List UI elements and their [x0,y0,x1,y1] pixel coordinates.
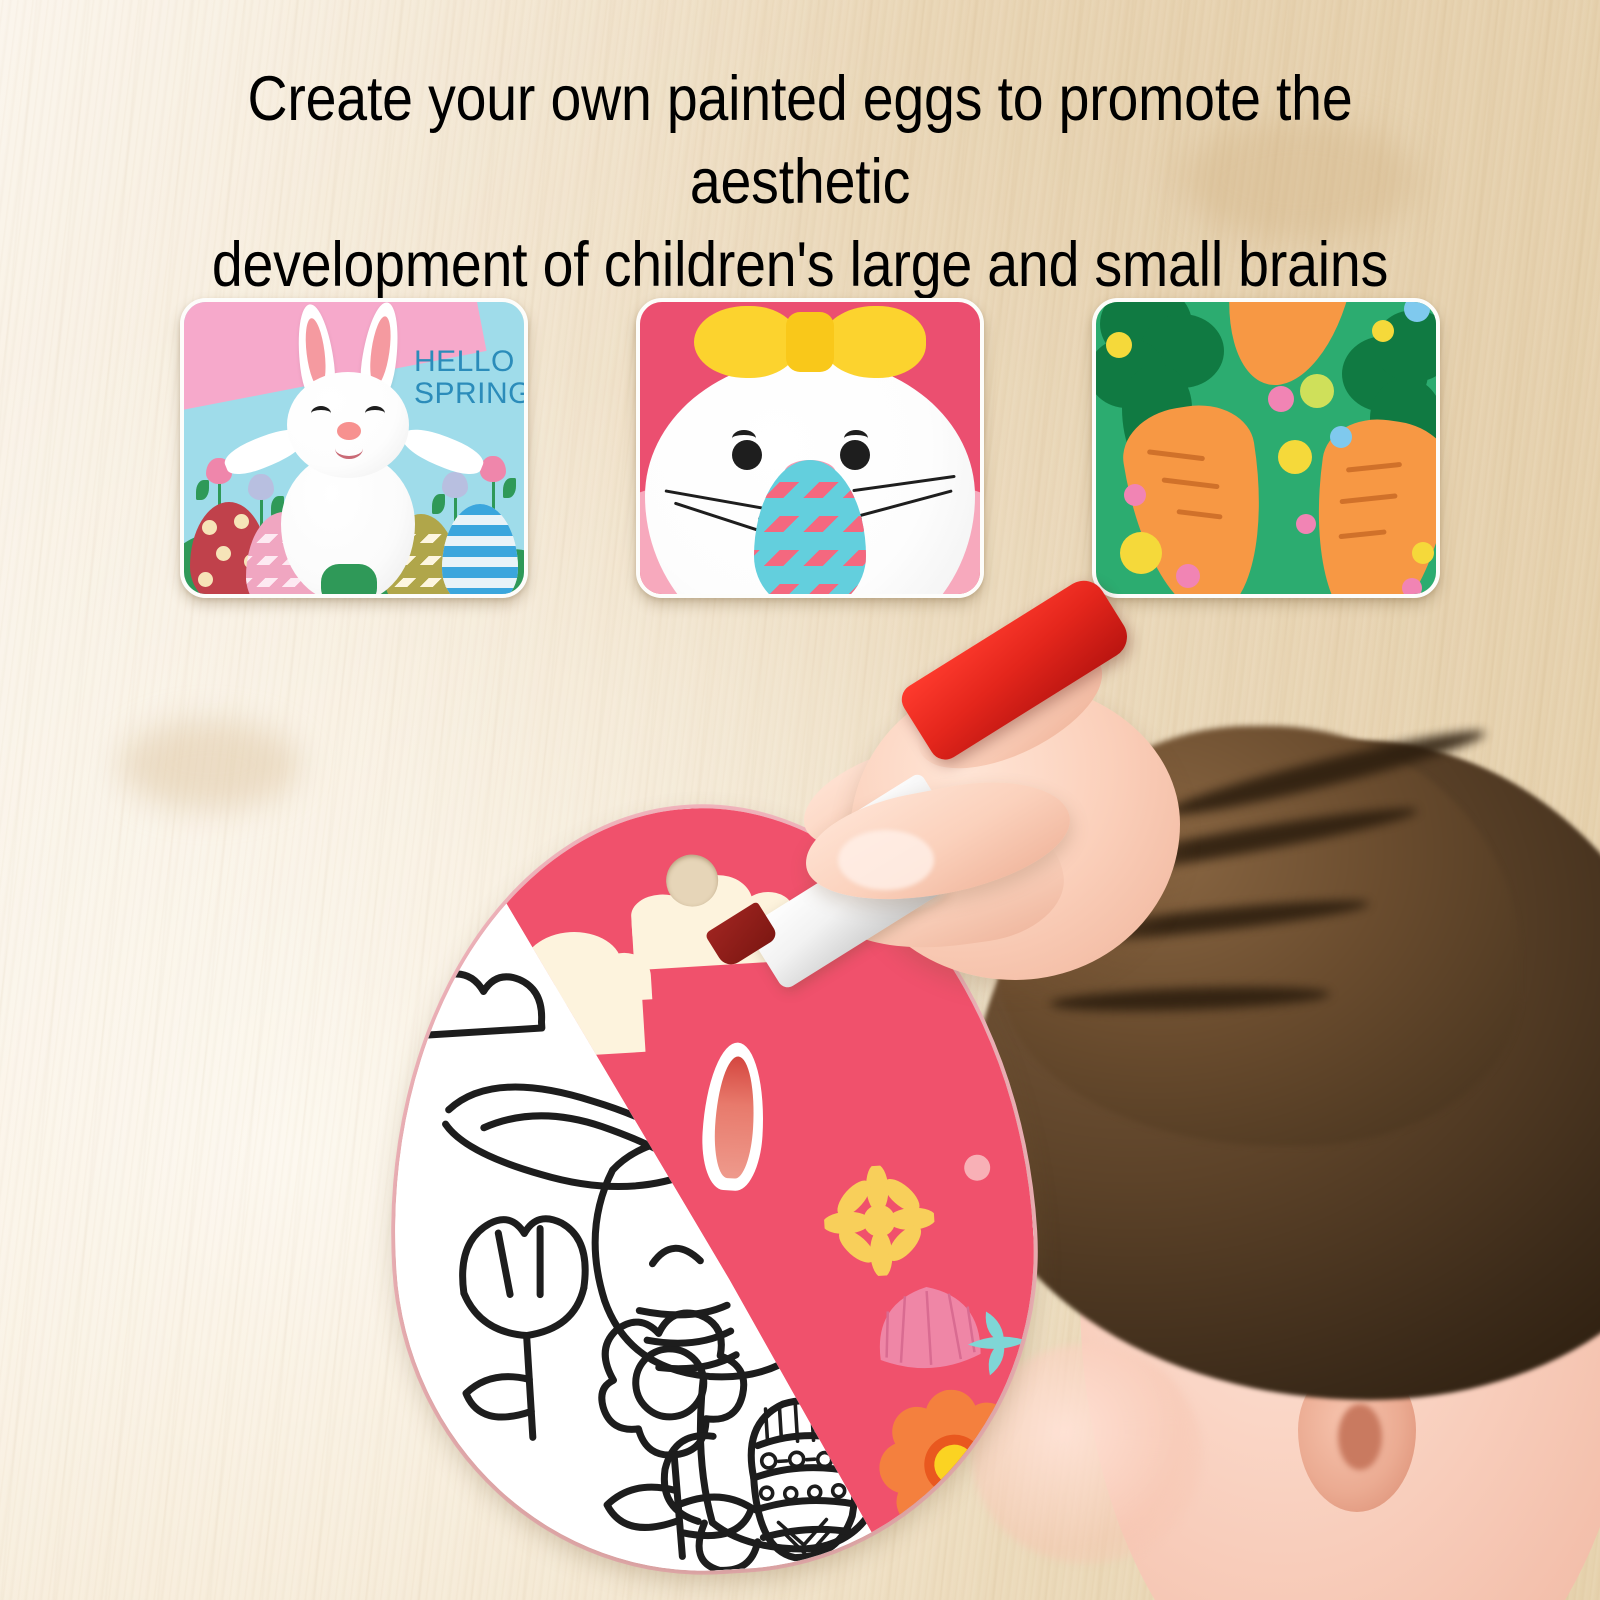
polka-dot [1176,564,1200,588]
tulip-leaf [196,480,209,500]
fingernail-front [838,830,934,890]
headline-line-2: development of children's large and smal… [131,224,1469,307]
polka-dot [1120,532,1162,574]
polka-dot [1296,514,1316,534]
thumbnail-card-carrots[interactable] [1092,298,1440,598]
polka-dot [1402,578,1422,594]
product-image-canvas: Create your own painted eggs to promote … [0,0,1600,1600]
pink-dot-accent [956,1147,998,1189]
polka-dot [1278,440,1312,474]
bow-right-loop [822,306,926,378]
carrot-line [1161,477,1219,489]
carrot-line [1339,493,1397,504]
polka-dot [1372,320,1394,342]
child-hand-grip-overlay [760,640,1220,1060]
polka-dot [1124,484,1146,506]
page-title: Create your own painted eggs to promote … [96,58,1504,307]
bunny-eye-right [365,406,385,421]
thumb2-yellow-bow [694,306,926,378]
thumbnail-card-hello-spring[interactable]: HELLO SPRING [180,298,528,598]
thumbnail-card-bunny-face[interactable] [636,298,984,598]
polka-dot [1330,426,1352,448]
polka-dot [1412,542,1434,564]
bow-center-knot [786,312,834,372]
carrot-line [1338,529,1386,539]
carrot-line [1176,509,1222,520]
polka-dot [1268,386,1294,412]
bunny-foot-center [321,564,377,594]
easter-egg-blue-stripes [442,504,518,594]
polka-dot [1106,332,1132,358]
tulip-bud [480,456,506,482]
bunny-eye-left [311,406,331,421]
carrot-line [1147,449,1205,461]
bow-left-loop [694,306,798,378]
headline-line-1: Create your own painted eggs to promote … [131,58,1469,224]
bunny-mouth [335,438,363,459]
thumb2-brow-right [844,430,868,447]
design-thumbnail-strip: HELLO SPRING [0,298,1600,594]
index-finger-front [797,765,1080,918]
child-ear-canal [1338,1404,1382,1470]
thumb2-brow-left [732,430,756,447]
carrot-line [1346,462,1402,473]
main-photo-scene [0,600,1600,1600]
thumb1-bunny [259,326,449,576]
polka-dot [1300,374,1334,408]
